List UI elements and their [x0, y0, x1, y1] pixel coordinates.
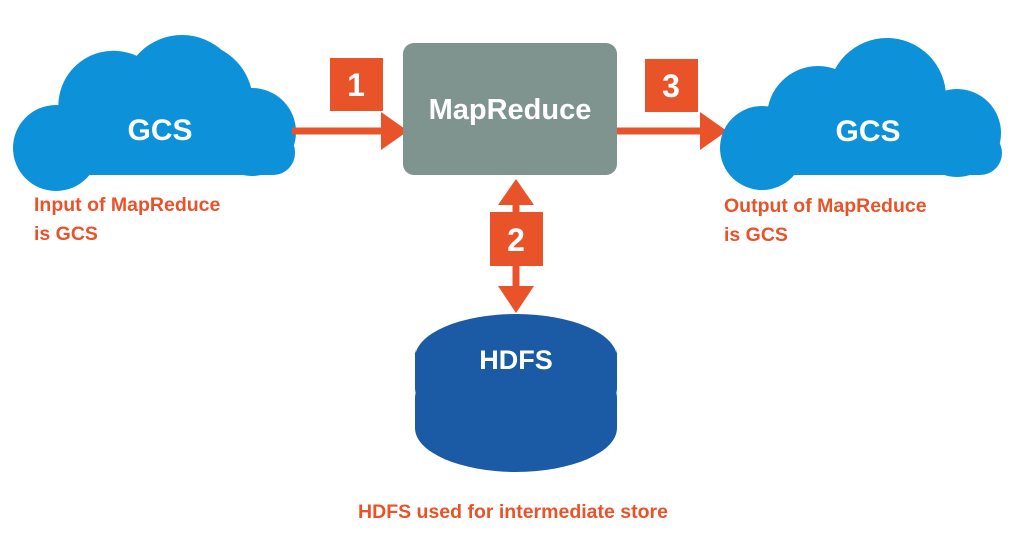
caption-hdfs: HDFS used for intermediate store [358, 501, 668, 523]
caption-output: Output of MapReduce is GCS [724, 195, 927, 246]
caption-input-line2: is GCS [34, 223, 98, 245]
node-input-cloud[interactable]: GCS [13, 35, 296, 191]
badge-3-number: 3 [662, 68, 680, 104]
badge-2-number: 2 [507, 222, 525, 258]
caption-input-line1: Input of MapReduce [34, 194, 220, 216]
arrow-2-head-down [498, 286, 534, 313]
caption-output-line1: Output of MapReduce [724, 195, 927, 217]
diagram-canvas: GCS Input of MapReduce is GCS 1 MapReduc… [0, 0, 1016, 546]
arrow-3-shaft [617, 128, 704, 135]
arrow-step-1 [292, 112, 408, 150]
node-hdfs-cylinder[interactable]: HDFS [415, 314, 617, 472]
input-cloud-label: GCS [127, 114, 192, 147]
mapreduce-dataflow-diagram: GCS Input of MapReduce is GCS 1 MapReduc… [0, 0, 1016, 546]
node-output-cloud[interactable]: GCS [720, 38, 1002, 190]
node-mapreduce-box[interactable]: MapReduce [403, 43, 617, 175]
hdfs-cylinder-label: HDFS [479, 345, 553, 375]
badge-step-3[interactable]: 3 [645, 59, 698, 112]
badge-step-1[interactable]: 1 [330, 58, 383, 111]
caption-output-line2: is GCS [724, 224, 788, 246]
output-cloud-label: GCS [835, 115, 900, 148]
arrow-1-shaft [292, 128, 385, 135]
arrow-step-3 [617, 112, 727, 150]
badge-step-2[interactable]: 2 [490, 212, 543, 266]
badge-1-number: 1 [347, 67, 365, 103]
arrow-2-head-up [498, 179, 534, 205]
caption-input: Input of MapReduce is GCS [34, 194, 220, 245]
mapreduce-box-label: MapReduce [429, 94, 592, 126]
arrow-2-shaft-lower [513, 264, 520, 288]
